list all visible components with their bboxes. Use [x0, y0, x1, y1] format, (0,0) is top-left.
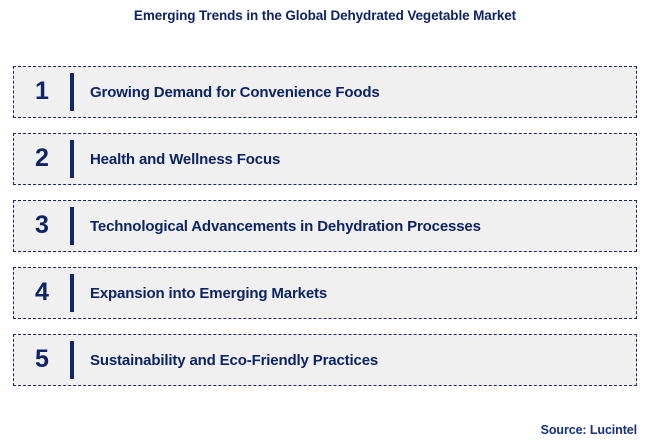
trend-number: 5	[14, 347, 70, 374]
trend-number: 3	[14, 213, 70, 240]
trend-item-5[interactable]: 5 Sustainability and Eco-Friendly Practi…	[13, 334, 637, 386]
trend-number: 1	[14, 79, 70, 106]
trend-item-3[interactable]: 3 Technological Advancements in Dehydrat…	[13, 200, 637, 252]
trend-label: Expansion into Emerging Markets	[74, 285, 327, 302]
trend-list: 1 Growing Demand for Convenience Foods 2…	[13, 66, 637, 386]
trend-item-2[interactable]: 2 Health and Wellness Focus	[13, 133, 637, 185]
trend-label: Growing Demand for Convenience Foods	[74, 84, 380, 101]
trend-label: Technological Advancements in Dehydratio…	[74, 218, 481, 235]
trend-label: Health and Wellness Focus	[74, 151, 280, 168]
trend-number: 2	[14, 146, 70, 173]
trend-label: Sustainability and Eco-Friendly Practice…	[74, 352, 378, 369]
infographic-page: Emerging Trends in the Global Dehydrated…	[0, 0, 650, 446]
trend-item-1[interactable]: 1 Growing Demand for Convenience Foods	[13, 66, 637, 118]
trend-number: 4	[14, 280, 70, 307]
page-title: Emerging Trends in the Global Dehydrated…	[0, 8, 650, 23]
trend-item-4[interactable]: 4 Expansion into Emerging Markets	[13, 267, 637, 319]
source-attribution: Source: Lucintel	[541, 423, 637, 437]
